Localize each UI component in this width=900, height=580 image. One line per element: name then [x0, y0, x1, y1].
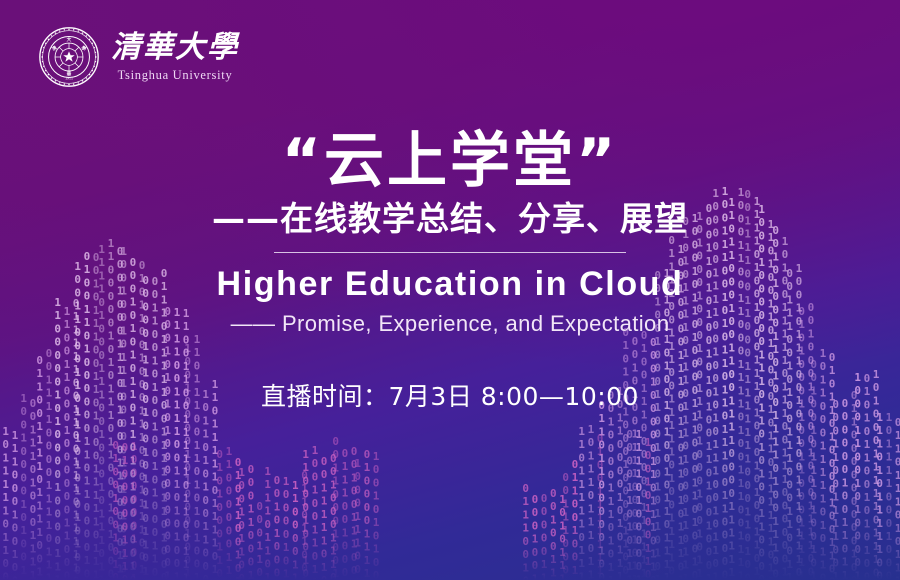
binary-column: 00011000111 — [245, 463, 256, 580]
binary-column: 0011000100110 — [330, 435, 341, 580]
svg-text:學: 學 — [80, 44, 88, 53]
tsinghua-wordmark: 清華大學 Tsinghua University — [111, 31, 239, 83]
divider — [274, 252, 626, 253]
binary-column: 101100001010111111 — [614, 385, 625, 580]
binary-column: 0010100000 — [271, 474, 282, 580]
binary-column: 1100000011101 — [223, 445, 234, 580]
binary-column: 00000111 — [538, 492, 549, 580]
binary-column: 00001101011110 — [624, 428, 635, 580]
tsinghua-seal-icon: 大 清 學 華 1911 — [38, 26, 100, 88]
broadcast-time: 直播时间：7月3日 8:00—10:00 — [0, 377, 900, 413]
page-title: “云上学堂” — [0, 128, 900, 194]
binary-column: 101110111011111 — [585, 423, 596, 580]
binary-column: 00011001111001010 — [830, 398, 841, 580]
tsinghua-logo: 大 清 學 華 1911 清華大學 Tsinghua University — [38, 26, 239, 88]
binary-column: 011100100000 — [339, 447, 350, 580]
binary-column: 1001001101111 — [309, 444, 320, 580]
subtitle-english: —— Promise, Experience, and Expectation — [0, 311, 900, 337]
binary-column: 011011101011111 — [892, 416, 900, 580]
binary-column: 11011111011101 — [576, 425, 587, 580]
binary-column: 101101010011000000 — [200, 388, 211, 580]
binary-column: 1001010011011 — [642, 436, 653, 580]
title-english: Higher Education in Cloud — [0, 264, 900, 305]
binary-column: 0110110010 — [299, 469, 310, 580]
binary-column: 010110010100 — [232, 456, 243, 580]
binary-column: 0100100101000 — [110, 439, 121, 580]
poster-content: “云上学堂” ——在线教学总结、分享、展望 Higher Education i… — [0, 128, 900, 413]
wordmark-english: Tsinghua University — [118, 68, 233, 83]
binary-column: 1100001110 — [290, 479, 301, 580]
subtitle-chinese: ——在线教学总结、分享、展望 — [0, 200, 900, 238]
binary-column: 01001111111100 — [594, 432, 605, 580]
binary-column: 01101100000100110 — [596, 399, 607, 580]
binary-column: 0010011100010 — [348, 445, 359, 580]
binary-column: 01100100100 — [569, 458, 580, 580]
binary-column: 001001101 — [548, 487, 559, 580]
binary-column: 001000111010 — [328, 452, 339, 580]
binary-column: 00010010 — [529, 493, 540, 580]
binary-column: 10111110110001 — [0, 425, 11, 580]
wordmark-chinese: 清華大學 — [111, 33, 239, 63]
binary-column: 10001110001 — [352, 457, 363, 580]
binary-column: 001000011101011001 — [605, 389, 616, 580]
binary-column: 10101110 — [557, 493, 568, 580]
binary-column: 011100101 — [520, 482, 531, 580]
binary-column: 00111010001111001 — [27, 397, 38, 580]
binary-column: 10010110001 — [236, 466, 247, 580]
binary-column: 010000111101 — [361, 448, 372, 580]
binary-column: 1000010111 — [280, 475, 291, 580]
binary-column: 1000000100111 — [128, 440, 139, 580]
binary-column: 11110100000110 — [633, 428, 644, 580]
binary-column: 011000000000100001 — [848, 389, 859, 580]
binary-column: 010100011011 — [214, 448, 225, 580]
binary-column: 00011011 — [254, 500, 265, 580]
binary-column: 00000010011011011 — [839, 397, 850, 580]
binary-column: 10010000101001110 — [18, 392, 29, 580]
binary-column: 11100010010011 — [9, 429, 20, 580]
binary-column: 110001001010 — [300, 448, 311, 580]
svg-text:1911: 1911 — [65, 77, 73, 81]
binary-column: 0011100000 — [560, 471, 571, 580]
binary-column: 100101010010 — [370, 450, 381, 580]
binary-column: 001111101010 — [318, 455, 329, 580]
binary-column: 11110110100 — [262, 465, 273, 580]
poster-canvas: 1011111011000111100010010011100100001010… — [0, 0, 900, 580]
binary-column: 1110101111100001 — [874, 411, 885, 580]
binary-column: 1011110001000100 — [883, 411, 894, 580]
binary-column: 0100000111000 — [119, 441, 130, 580]
